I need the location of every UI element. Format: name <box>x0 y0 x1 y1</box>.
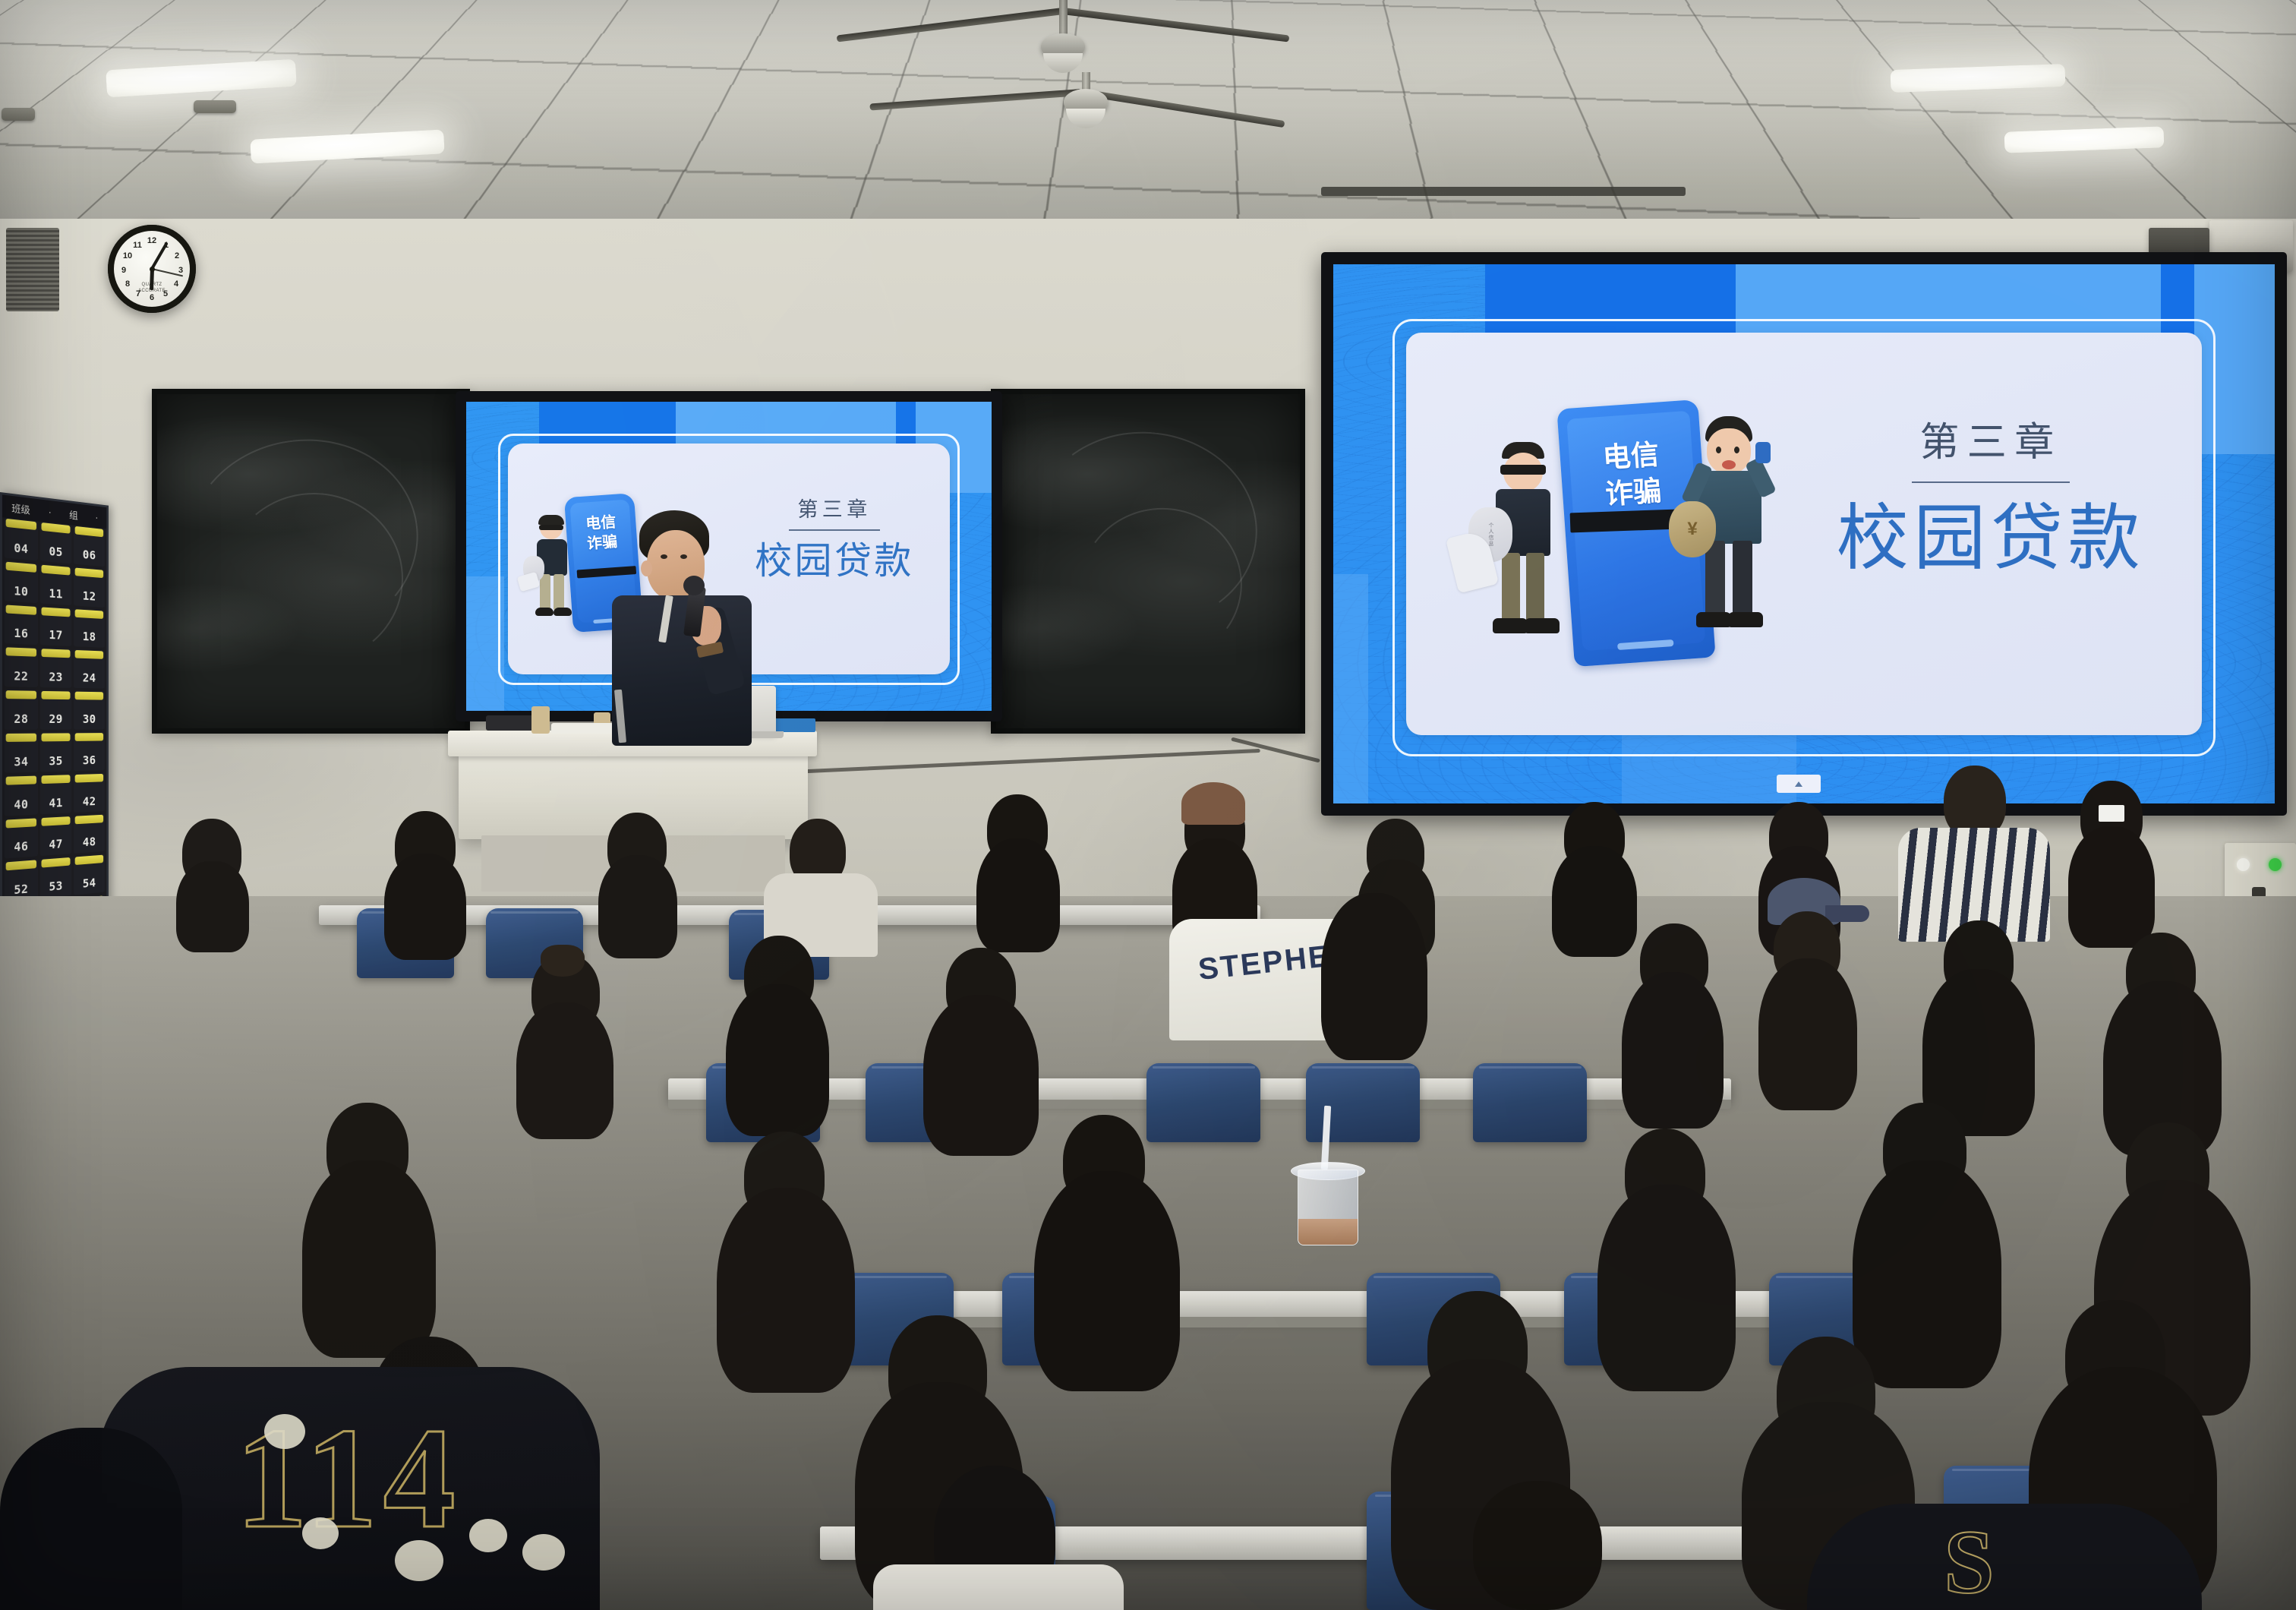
clock-numeral: 11 <box>133 241 142 250</box>
pocket-header-dot: · <box>49 506 52 517</box>
clock-center-pin <box>150 267 155 272</box>
pocket-number: 16 <box>14 626 28 641</box>
clock-face: 12 1 2 3 4 5 6 7 8 9 10 11 QUARTZ ACCURA… <box>114 231 190 307</box>
audience-hair <box>923 995 1039 1156</box>
pocket-slot[interactable]: 34 <box>5 733 38 773</box>
pocket-slot[interactable]: 54 <box>74 854 105 895</box>
slide-illustration: 电信 诈骗 <box>1482 395 1801 691</box>
clock-numeral: 2 <box>175 251 179 260</box>
pocket-number: 18 <box>83 630 96 644</box>
pocket-slot[interactable]: 06 <box>74 526 105 567</box>
personal-info-bag-label: 个人信息 <box>1487 522 1494 547</box>
victim-eye <box>1716 447 1721 453</box>
thief-leg <box>540 574 550 611</box>
pocket-slot[interactable]: 05 <box>39 522 71 563</box>
slide-logo-badge <box>1777 775 1821 793</box>
pocket-number: 40 <box>14 797 28 812</box>
pocket-slot[interactable]: 35 <box>39 732 71 772</box>
embroidered-flower <box>395 1540 443 1581</box>
main-slide: 电信 诈骗 <box>1333 264 2275 803</box>
papers <box>551 723 613 734</box>
thief-leg <box>553 574 564 611</box>
pocket-number: 47 <box>49 837 62 852</box>
pocket-slot[interactable]: 22 <box>5 647 38 687</box>
chapter-divider <box>789 529 880 531</box>
embroidered-flower <box>264 1414 305 1449</box>
cap-brim <box>1825 905 1869 922</box>
pocket-slot[interactable]: 29 <box>39 690 71 730</box>
baseball-cap <box>1181 782 1245 825</box>
thief-hat <box>538 515 564 525</box>
audience-head <box>1473 1481 1602 1610</box>
audience-hair <box>384 854 466 960</box>
pocket-number: 06 <box>83 548 96 563</box>
smoke-detector-icon <box>194 100 236 113</box>
power-led-icon <box>2237 858 2250 871</box>
pocket-row: 22 23 24 <box>2 647 107 692</box>
victim-leg <box>1705 541 1725 617</box>
victim-phone <box>1755 442 1771 463</box>
audience-hair <box>1034 1171 1180 1391</box>
audience-hair <box>1853 1160 2001 1388</box>
pocket-number: 22 <box>14 669 28 683</box>
pocket-number: 10 <box>14 583 28 598</box>
pocket-slot[interactable]: 41 <box>39 774 71 814</box>
pocket-number: 35 <box>49 753 62 768</box>
pocket-slot[interactable]: 42 <box>74 773 105 813</box>
pocket-number: 29 <box>49 712 62 725</box>
victim-mouth <box>1722 460 1736 469</box>
pocket-number: 23 <box>49 670 62 684</box>
audience-hair <box>1597 1185 1736 1391</box>
hair-clip <box>2099 805 2124 822</box>
thief-eye-mask <box>1500 465 1546 475</box>
pocket-number: 28 <box>14 712 28 726</box>
pocket-number: 24 <box>83 671 96 685</box>
pocket-header-dot: · <box>95 511 98 522</box>
microphone-receiver <box>486 715 536 731</box>
pocket-number: 36 <box>83 753 96 767</box>
clock-numeral: 9 <box>121 266 126 275</box>
pocket-slot[interactable]: 46 <box>5 817 38 859</box>
clock-numeral: 10 <box>123 251 132 260</box>
thief-shoe <box>535 608 553 616</box>
pocket-header-label: 组 <box>69 507 78 522</box>
pocket-row: 40 41 42 <box>2 773 107 819</box>
seat[interactable] <box>1146 1063 1260 1142</box>
victim-shoe <box>1728 612 1763 627</box>
pocket-number: 30 <box>83 712 96 726</box>
pocket-row: 34 35 36 <box>2 732 107 776</box>
beverage <box>1298 1219 1358 1245</box>
clock-numeral: 12 <box>147 236 156 245</box>
slide-chapter-block: 第三章 校园贷款 <box>1816 424 2165 577</box>
pocket-slot[interactable]: 11 <box>39 563 71 605</box>
money-bag-symbol: ¥ <box>1687 519 1697 540</box>
clock-hour-hand <box>150 269 154 290</box>
pocket-number: 53 <box>49 879 62 894</box>
thief-shoe <box>553 608 572 616</box>
microphone-head-icon <box>683 576 705 595</box>
thief-eye-mask <box>539 525 563 530</box>
audience-hair <box>2068 826 2155 948</box>
phone-pocket-board[interactable]: 班级 · 组 · 04 05 06 10 11 12 16 17 18 22 2… <box>0 492 109 951</box>
audience-hair <box>1758 958 1857 1110</box>
thief-leg <box>1502 553 1520 623</box>
pocket-number: 12 <box>83 589 96 603</box>
thief-character: 个人信息 <box>1482 442 1573 670</box>
pocket-number: 17 <box>49 628 62 642</box>
status-led-icon <box>2269 858 2282 871</box>
pocket-slot[interactable]: 40 <box>5 775 38 816</box>
victim-character: ¥ <box>1686 416 1792 667</box>
seat[interactable] <box>1473 1063 1587 1142</box>
cup-body <box>1298 1170 1358 1245</box>
pocket-slot[interactable]: 30 <box>74 691 105 730</box>
document-paper <box>517 572 541 592</box>
slide-band-light <box>1333 574 1368 803</box>
pocket-slot[interactable]: 12 <box>74 567 105 607</box>
audience-shoulders <box>873 1564 1124 1610</box>
audience-hair <box>976 838 1060 952</box>
money-bag: ¥ <box>1669 501 1716 557</box>
blackboard-left <box>152 389 470 734</box>
blackboard-right <box>991 389 1305 734</box>
audience-hair <box>1552 846 1637 957</box>
pocket-slot[interactable]: 47 <box>39 816 71 857</box>
hair-bun <box>541 945 585 977</box>
pocket-number: 41 <box>49 795 62 810</box>
pocket-slot[interactable]: 24 <box>74 649 105 688</box>
audience-hair <box>717 1188 855 1393</box>
victim-eye <box>1734 447 1739 453</box>
foreground-shoulder <box>0 1428 182 1610</box>
audience-hair <box>176 861 249 952</box>
pocket-header-label: 班级 <box>11 500 30 516</box>
lecture-hall-photo: 12 1 2 3 4 5 6 7 8 9 10 11 QUARTZ ACCURA… <box>0 0 2296 1610</box>
audience-hair <box>516 1002 613 1139</box>
pocket-number: 52 <box>14 882 28 898</box>
clock-minute-hand <box>150 241 168 270</box>
pocket-number: 34 <box>14 754 28 769</box>
presenter-eye <box>680 554 687 559</box>
drink-cup[interactable] <box>1291 1145 1364 1252</box>
embroidered-flower <box>522 1534 565 1571</box>
chapter-divider <box>1912 481 2070 483</box>
clock-numeral: 8 <box>125 279 130 289</box>
ceiling-shading <box>0 0 2296 228</box>
wooden-block <box>531 706 550 734</box>
ceiling <box>0 0 2296 228</box>
smoke-detector-icon <box>2 108 35 121</box>
pocket-slot[interactable]: 17 <box>39 606 71 646</box>
pocket-slot[interactable]: 10 <box>5 560 38 603</box>
pocket-slot[interactable]: 18 <box>74 608 105 648</box>
pocket-number: 48 <box>83 835 96 849</box>
pocket-slot[interactable]: 36 <box>74 732 105 771</box>
thief-leg <box>1526 553 1544 623</box>
presenter <box>607 510 782 761</box>
wall-vent <box>6 228 59 311</box>
pocket-number: 11 <box>49 586 62 601</box>
embroidered-flower <box>469 1519 507 1552</box>
pocket-slot[interactable]: 04 <box>5 518 38 561</box>
pocket-slot[interactable]: 23 <box>39 649 71 688</box>
pocket-row: 10 11 12 <box>2 560 107 610</box>
audience-hair <box>1321 893 1427 1060</box>
victim-leg <box>1733 541 1752 617</box>
clock-numeral: 6 <box>150 293 154 302</box>
presenter-eye <box>661 554 667 559</box>
ceiling-fan <box>1017 0 1109 84</box>
audience-shoulders <box>1807 1504 2202 1610</box>
slide-card: 电信 诈骗 <box>1406 333 2202 735</box>
main-display-bezel[interactable]: 电信 诈骗 <box>1321 252 2287 816</box>
pocket-number: 42 <box>83 794 96 808</box>
wall-clock: 12 1 2 3 4 5 6 7 8 9 10 11 QUARTZ ACCURA… <box>108 225 196 313</box>
pocket-row: 16 17 18 <box>2 604 107 651</box>
pocket-slot[interactable]: 16 <box>5 604 38 646</box>
clock-numeral: 3 <box>178 266 183 275</box>
fan-light-globe <box>1066 109 1105 128</box>
thief-shoe <box>1525 618 1560 633</box>
clock-numeral: 4 <box>174 279 178 289</box>
audience-hair <box>302 1160 436 1358</box>
victim-shoe <box>1696 612 1731 627</box>
jacket-number: S <box>1944 1510 1998 1610</box>
audience-hair <box>598 855 677 958</box>
mount-bracket <box>1321 187 1686 196</box>
chapter-title: 校园贷款 <box>1816 501 2165 577</box>
thief-shoe <box>1493 618 1528 633</box>
fan-light-globe <box>1043 53 1083 73</box>
pocket-row: 28 29 30 <box>2 690 107 733</box>
pocket-number: 54 <box>83 876 96 891</box>
pocket-number: 04 <box>14 541 28 557</box>
audience-hair <box>1622 972 1724 1129</box>
chapter-number: 第三章 <box>1816 424 2165 463</box>
ceiling-fan <box>1040 72 1131 163</box>
thief-character <box>529 516 579 630</box>
pocket-number: 46 <box>14 839 28 854</box>
pocket-number: 05 <box>49 544 62 559</box>
pocket-slot[interactable]: 28 <box>5 690 38 730</box>
embroidered-flower <box>302 1517 339 1549</box>
audience-hair <box>726 984 829 1136</box>
pocket-slot[interactable]: 53 <box>39 857 71 898</box>
pocket-slot[interactable]: 48 <box>74 813 105 854</box>
presenter-ear <box>641 560 652 576</box>
